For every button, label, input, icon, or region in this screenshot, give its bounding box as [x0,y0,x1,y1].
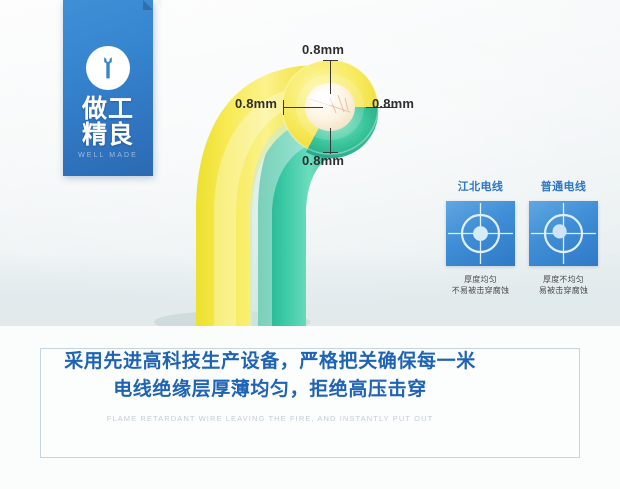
dimension-label-top: 0.8mm [302,42,344,57]
message-headline-line-1: 采用先进高科技生产设备，严格把关确保每一米 [0,348,540,376]
caption-line-2: 易被击穿腐蚀 [529,285,598,296]
product-scene: 0.8mm 0.8mm 0.8mm 0.8mm 做工 精良 WELL MADE [0,0,620,326]
banner-fold-corner [152,0,162,9]
comparison-title-ordinary: 普通电线 [529,178,598,194]
crosshair-target-icon [529,201,598,266]
caption-line-1: 厚度不均匀 [529,274,598,285]
banner-title-line-2: 精良 [63,122,153,148]
comparison-captions: 厚度均匀 不易被击穿腐蚀 厚度不均匀 易被击穿腐蚀 [446,274,598,296]
caption-line-1: 厚度均匀 [446,274,515,285]
comparison-caption-jiangbei: 厚度均匀 不易被击穿腐蚀 [446,274,515,296]
dimension-label-bottom: 0.8mm [302,153,344,168]
message-section: 采用先进高科技生产设备，严格把关确保每一米 电线绝缘层厚薄均匀，拒绝高压击穿 F… [0,326,620,489]
product-feature-banner: 0.8mm 0.8mm 0.8mm 0.8mm 做工 精良 WELL MADE [0,0,620,489]
dim-tick-bottom [330,128,331,154]
quality-banner: 做工 精良 WELL MADE [63,0,153,176]
message-headline-line-2: 电线绝缘层厚薄均匀，拒绝高压击穿 [0,376,540,404]
banner-subtitle: WELL MADE [63,152,153,159]
dim-tick-left [283,107,323,108]
comparison-box-jiangbei [446,201,515,266]
dim-cap-top [323,60,338,61]
dimension-label-left: 0.8mm [235,96,277,111]
dimension-label-right: 0.8mm [372,96,414,111]
crosshair-target-icon [446,201,515,266]
message-subline: FLAME RETARDANT WIRE LEAVING THE FIRE, A… [0,414,540,423]
message-headline: 采用先进高科技生产设备，严格把关确保每一米 电线绝缘层厚薄均匀，拒绝高压击穿 [0,348,540,404]
banner-title: 做工 精良 [63,96,153,148]
comparison-titles: 江北电线 普通电线 [446,178,598,194]
wrench-icon [86,46,130,90]
dim-tick-top [330,60,331,94]
banner-title-line-1: 做工 [63,96,153,122]
comparison-caption-ordinary: 厚度不均匀 易被击穿腐蚀 [529,274,598,296]
comparison-title-jiangbei: 江北电线 [446,178,515,194]
caption-line-2: 不易被击穿腐蚀 [446,285,515,296]
comparison-box-ordinary [529,201,598,266]
dim-cap-left [283,100,284,115]
comparison-boxes [446,201,598,266]
comparison-section: 江北电线 普通电线 [446,178,598,296]
